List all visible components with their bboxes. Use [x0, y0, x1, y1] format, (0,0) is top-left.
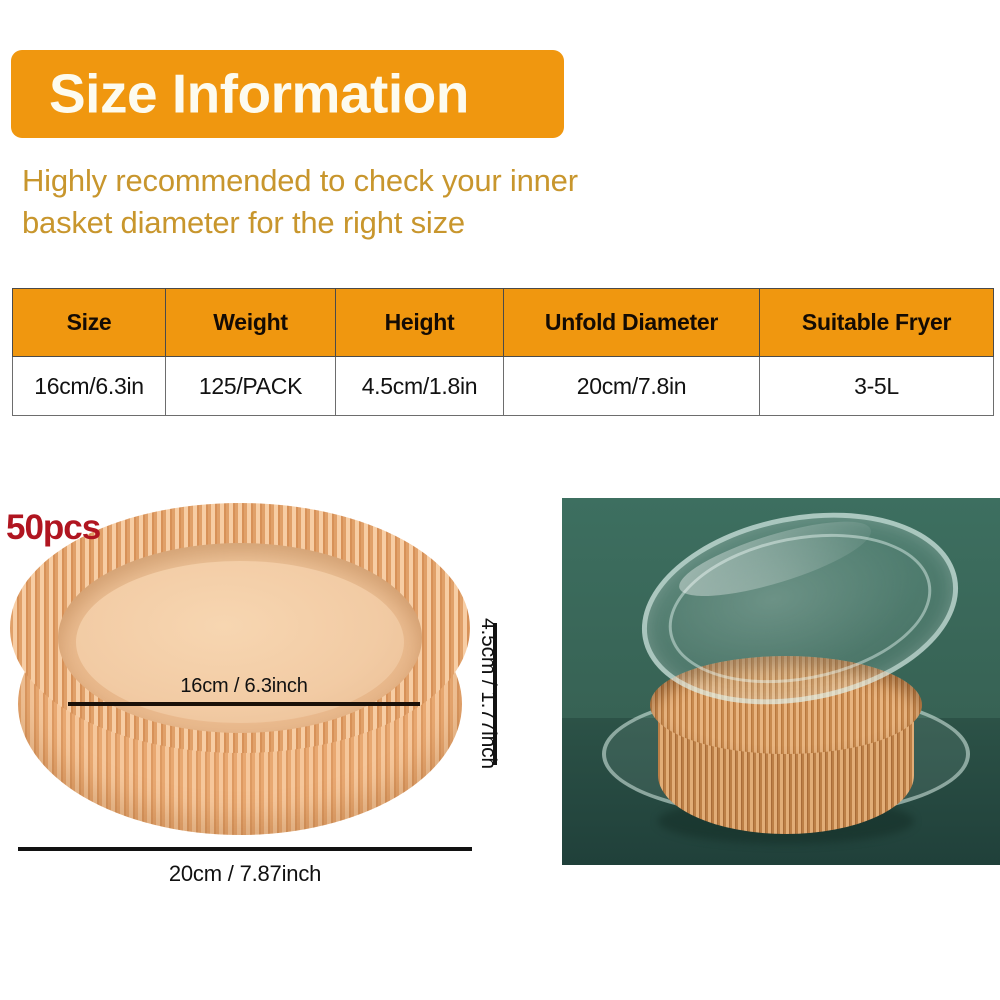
outer-diameter-label: 20cm / 7.87inch: [18, 861, 472, 887]
size-information-banner: Size Information: [11, 50, 564, 138]
inner-diameter-dimension: 16cm / 6.3inch: [68, 675, 420, 706]
column-header-height: Height: [336, 289, 504, 357]
column-header-suitable-fryer: Suitable Fryer: [760, 289, 994, 357]
cell-weight: 125/PACK: [166, 357, 336, 416]
cell-unfold-diameter: 20cm/7.8in: [504, 357, 760, 416]
table-row: 16cm/6.3in 125/PACK 4.5cm/1.8in 20cm/7.8…: [13, 357, 994, 416]
inner-diameter-label: 16cm / 6.3inch: [68, 675, 420, 698]
specification-table: Size Weight Height Unfold Diameter Suita…: [12, 288, 994, 416]
cell-size: 16cm/6.3in: [13, 357, 166, 416]
subtitle-line-1: Highly recommended to check your inner: [22, 160, 642, 202]
cell-suitable-fryer: 3-5L: [760, 357, 994, 416]
outer-diameter-line: [18, 847, 472, 851]
height-dimension-label: 4.5cm / 1.77inch: [474, 618, 500, 778]
column-header-size: Size: [13, 289, 166, 357]
table-header-row: Size Weight Height Unfold Diameter Suita…: [13, 289, 994, 357]
subtitle-text: Highly recommended to check your inner b…: [22, 160, 642, 243]
column-header-unfold-diameter: Unfold Diameter: [504, 289, 760, 357]
cell-height: 4.5cm/1.8in: [336, 357, 504, 416]
subtitle-line-2: basket diameter for the right size: [22, 202, 642, 244]
column-header-weight: Weight: [166, 289, 336, 357]
product-photo-right: [562, 498, 1000, 865]
product-diagram-left: 50pcs 16cm / 6.3inch 20cm / 7.87inch 4.5…: [0, 495, 540, 905]
inner-diameter-line: [68, 702, 420, 706]
page-title: Size Information: [49, 67, 469, 122]
quantity-badge: 50pcs: [6, 510, 100, 545]
